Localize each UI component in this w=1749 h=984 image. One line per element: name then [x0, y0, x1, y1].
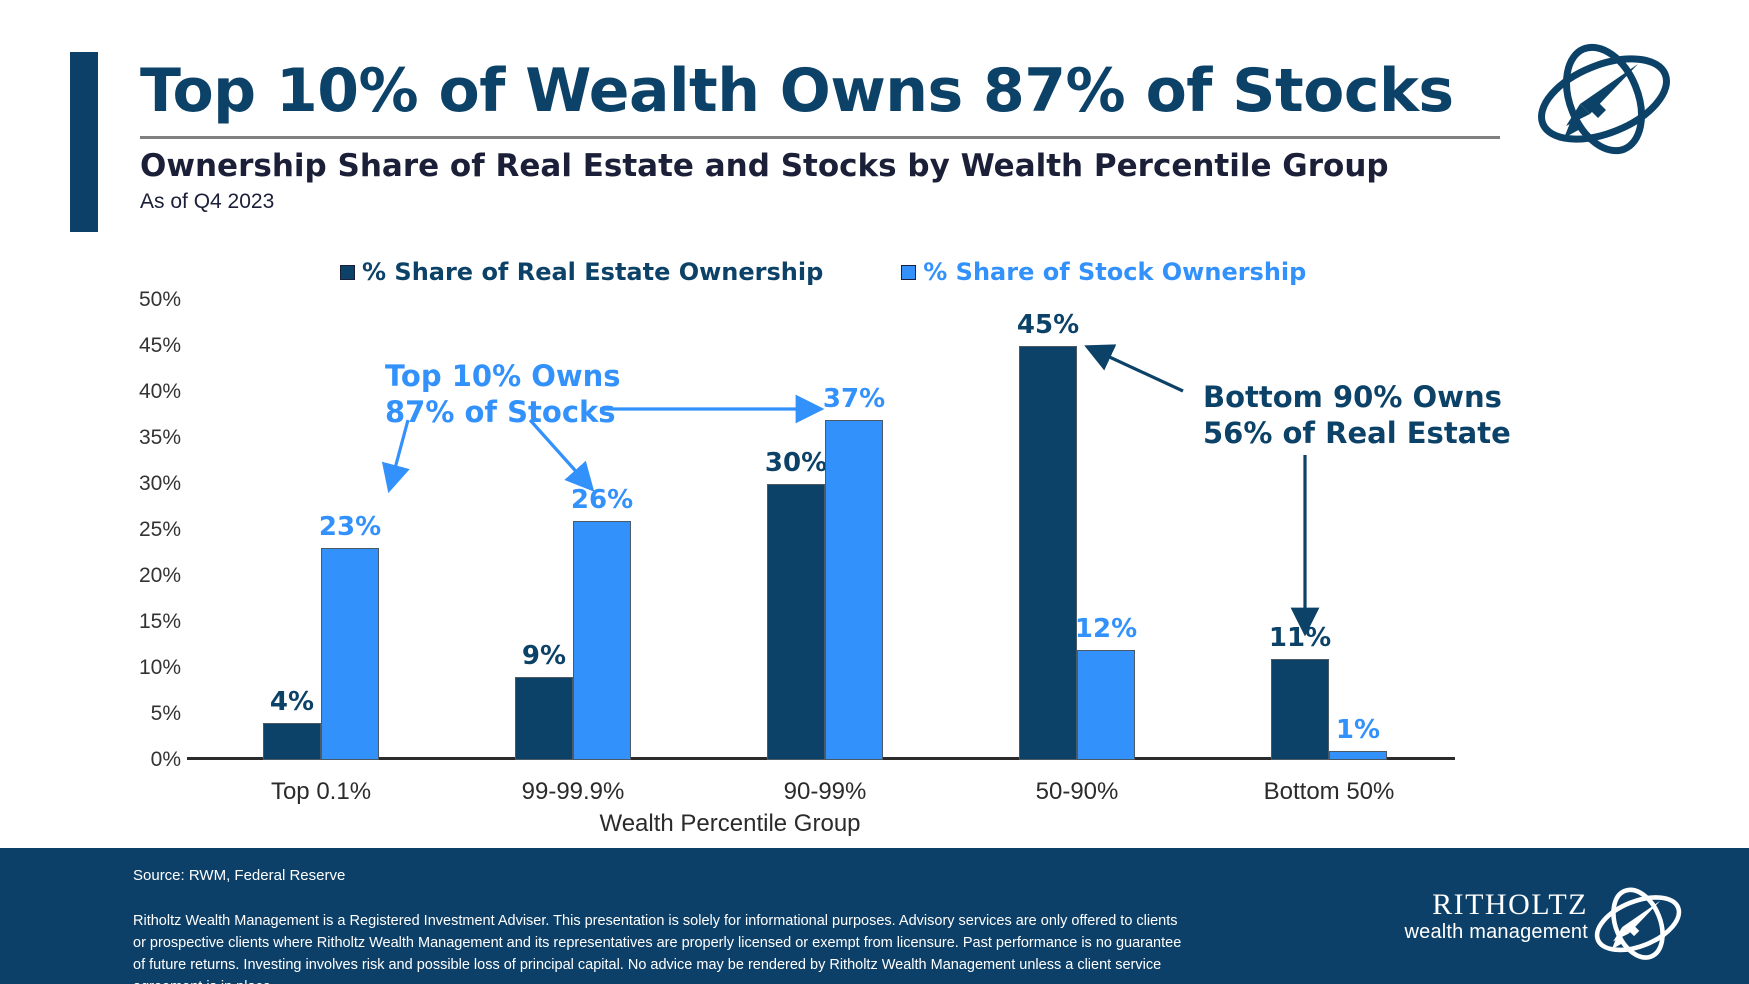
legend-item-stocks[interactable]: % Share of Stock Ownership [901, 258, 1306, 286]
footer-band: Source: RWM, Federal Reserve Ritholtz We… [0, 848, 1749, 984]
bar-real-estate[interactable]: 45% [1019, 346, 1077, 760]
bar-real-estate[interactable]: 9% [515, 677, 573, 760]
y-axis-tick: 50% [139, 288, 181, 312]
y-axis-tick: 30% [139, 472, 181, 496]
y-axis-tick: 20% [139, 564, 181, 588]
legend-item-real-estate[interactable]: % Share of Real Estate Ownership [340, 258, 823, 286]
y-axis-tick: 5% [151, 702, 181, 726]
bar-value-label: 9% [522, 641, 566, 671]
legend-swatch-stocks [901, 265, 916, 280]
bar-value-label: 30% [765, 448, 827, 478]
y-axis-tick: 35% [139, 426, 181, 450]
x-axis-tick: 50-90% [1036, 778, 1119, 806]
bar-value-label: 12% [1075, 614, 1137, 644]
footer-source: Source: RWM, Federal Reserve [133, 867, 345, 884]
bar-group: 11%1%Bottom 50% [1203, 300, 1455, 760]
annotation-bottom90-realestate: Bottom 90% Owns56% of Real Estate [1203, 380, 1511, 452]
bar-stocks[interactable]: 26% [573, 521, 631, 760]
bar-stocks[interactable]: 23% [321, 548, 379, 760]
footer-logo: RITHOLTZ wealth management [1393, 890, 1693, 960]
bar-value-label: 1% [1336, 715, 1380, 745]
title-divider [140, 136, 1500, 139]
footer-logo-main: RITHOLTZ [1393, 890, 1588, 920]
bar-real-estate[interactable]: 4% [263, 723, 321, 760]
x-axis-title: Wealth Percentile Group [0, 810, 1460, 838]
footer-disclaimer: Ritholtz Wealth Management is a Register… [133, 910, 1193, 984]
bar-value-label: 37% [823, 384, 885, 414]
footer-logo-text: RITHOLTZ wealth management [1393, 890, 1588, 945]
bar-chart-plot: 50%45%40%35%30%25%20%15%10%5%0% 4%23%Top… [195, 300, 1455, 760]
y-axis-tick: 15% [139, 610, 181, 634]
bar-stocks[interactable]: 37% [825, 420, 883, 760]
bar-real-estate[interactable]: 11% [1271, 659, 1329, 760]
bar-value-label: 11% [1269, 623, 1331, 653]
bar-stocks[interactable]: 1% [1329, 751, 1387, 760]
annotation-line-2: 56% of Real Estate [1203, 416, 1511, 450]
page-title: Top 10% of Wealth Owns 87% of Stocks [140, 56, 1490, 126]
page-subtitle: Ownership Share of Real Estate and Stock… [140, 148, 1389, 184]
x-axis-tick: 90-99% [784, 778, 867, 806]
bar-group: 30%37%90-99% [699, 300, 951, 760]
bar-real-estate[interactable]: 30% [767, 484, 825, 760]
as-of-date: As of Q4 2023 [140, 190, 274, 214]
legend-swatch-real-estate [340, 265, 355, 280]
x-axis-tick: 99-99.9% [522, 778, 625, 806]
bar-value-label: 45% [1017, 310, 1079, 340]
y-axis-tick: 40% [139, 380, 181, 404]
y-axis-tick: 10% [139, 656, 181, 680]
chart-legend: % Share of Real Estate Ownership % Share… [340, 258, 1306, 286]
annotation-line-2: 87% of Stocks [385, 395, 616, 429]
x-axis-tick: Bottom 50% [1264, 778, 1395, 806]
y-axis-tick: 0% [151, 748, 181, 772]
annotation-line-1: Top 10% Owns [385, 359, 621, 393]
ritholtz-rocket-orbit-icon [1583, 884, 1693, 964]
y-axis-tick: 45% [139, 334, 181, 358]
y-axis-tick: 25% [139, 518, 181, 542]
ritholtz-rocket-orbit-icon [1520, 42, 1688, 157]
header-accent-bar [70, 52, 98, 232]
infographic-root: Top 10% of Wealth Owns 87% of Stocks Own… [0, 0, 1749, 984]
legend-label-stocks: % Share of Stock Ownership [923, 258, 1306, 286]
legend-label-real-estate: % Share of Real Estate Ownership [362, 258, 823, 286]
annotation-line-1: Bottom 90% Owns [1203, 380, 1502, 414]
bar-value-label: 4% [270, 687, 314, 717]
bar-value-label: 26% [571, 485, 633, 515]
annotation-top10-stocks: Top 10% Owns87% of Stocks [385, 359, 621, 431]
bar-value-label: 23% [319, 512, 381, 542]
bar-group: 45%12%50-90% [951, 300, 1203, 760]
bar-stocks[interactable]: 12% [1077, 650, 1135, 760]
x-axis-tick: Top 0.1% [271, 778, 371, 806]
footer-logo-sub: wealth management [1393, 920, 1588, 945]
